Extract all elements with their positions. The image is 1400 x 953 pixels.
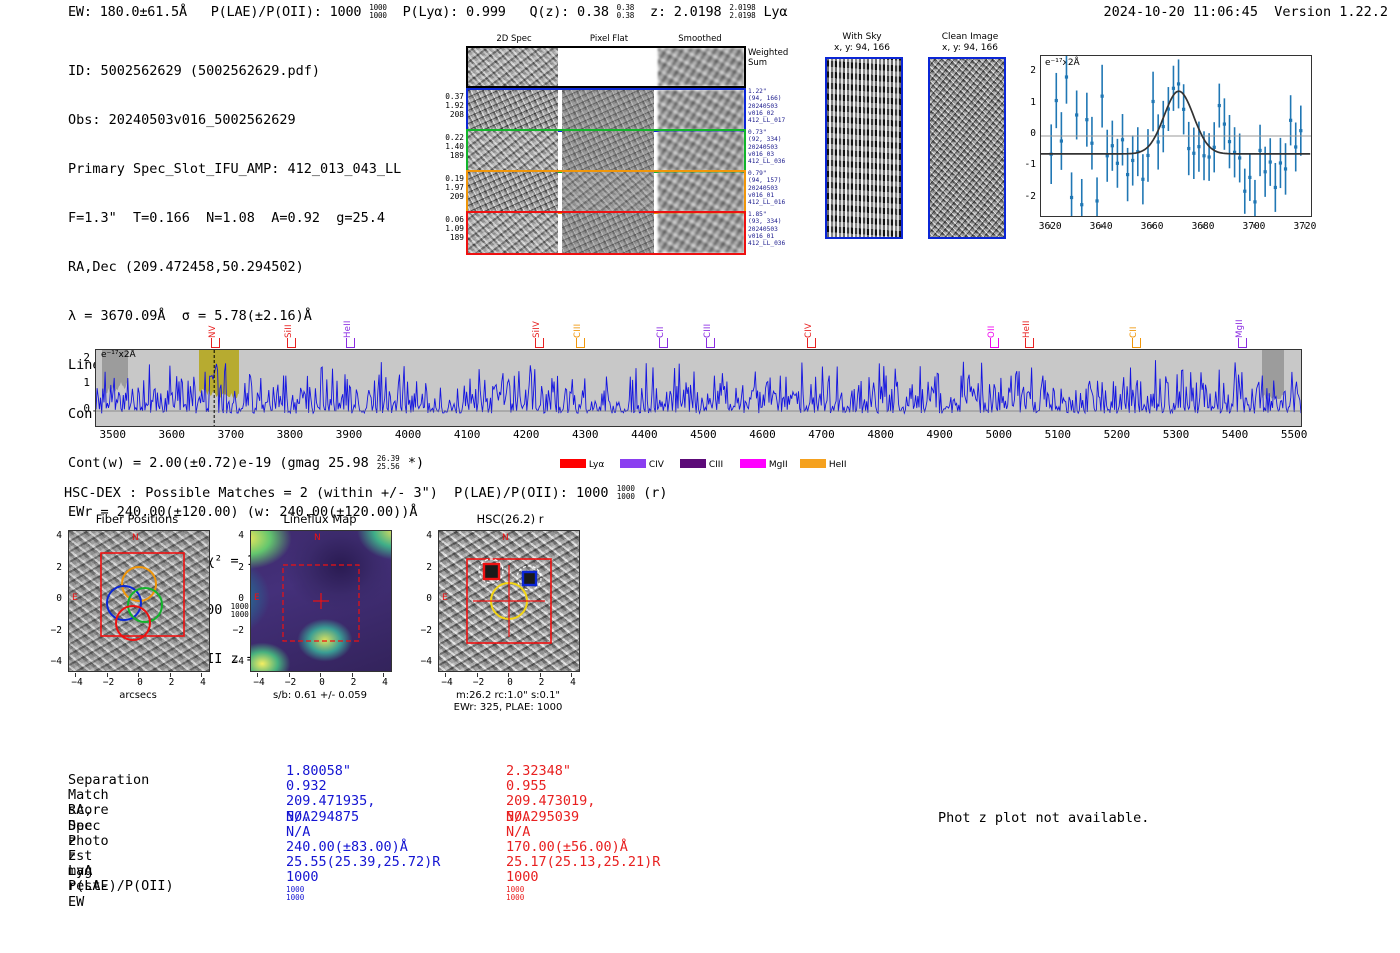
timestamp-version: 2024-10-20 11:06:45 Version 1.22.2 xyxy=(1104,4,1388,20)
spectrum-line-label-cii-5: CII xyxy=(656,310,666,338)
fiber-meta-1: 1.22"(94, 166) 20240503v016_02 412_LL_01… xyxy=(748,88,785,124)
compass-north-1: N xyxy=(132,533,139,543)
legend-swatch-1 xyxy=(620,459,646,468)
spectrum-line-label-heii-2: HeII xyxy=(343,310,353,338)
fiber-weight-1: 0.371.92208 xyxy=(440,92,464,119)
spectrum-line-tick-9 xyxy=(1025,338,1034,348)
compass-north-2: N xyxy=(314,533,321,543)
legend-item-ciii: CIII xyxy=(680,452,723,471)
spectrum-line-tick-7 xyxy=(807,338,816,348)
fiber-weight-4: 0.061.09189 xyxy=(440,215,464,242)
spectrum-line-label-mgii-11: MgII xyxy=(1235,310,1245,338)
legend-label-3: MgII xyxy=(766,460,788,470)
spectrum-line-label-nv-0: NV xyxy=(208,310,218,338)
compass-east-2: E xyxy=(254,593,260,603)
full-spectrum-plot: e⁻¹⁷x2Å xyxy=(95,349,1302,427)
fiber-positions-yaxis: 420−2−4 xyxy=(44,530,66,670)
spectrum-line-label-ciii-4: CIII xyxy=(573,310,583,338)
legend-swatch-0 xyxy=(560,459,586,468)
spectrum-line-tick-3 xyxy=(535,338,544,348)
legend-item-lyα: Lyα xyxy=(560,452,604,471)
panel-title-hsc-r: HSC(26.2) r xyxy=(430,512,590,526)
spectrum-line-labels: NVSiIIHeIISiIVCIIICIICIIICIVOIIHeIICIIMg… xyxy=(95,310,1305,350)
header-plya-qz: P(Lyα): 0.999 Q(z): 0.38 xyxy=(387,4,617,20)
fiber-image-2 xyxy=(466,129,746,173)
legend-label-2: CIII xyxy=(706,460,723,470)
match-row-label-0: Separation xyxy=(68,773,149,788)
spectrum-line-tick-1 xyxy=(287,338,296,348)
z-fraction: 2.01982.0198 xyxy=(729,4,755,20)
match-col1-value-4: N/A xyxy=(286,825,310,840)
clean-image xyxy=(928,57,1006,239)
meta-line-seeing: F=1.3" T=0.166 N=1.08 A=0.92 g=25.4 xyxy=(68,210,424,226)
panel-title-fiber-positions: Fiber Positions xyxy=(62,512,212,526)
hsc-r-image: N E xyxy=(438,530,580,672)
qz-fraction: 0.380.38 xyxy=(617,4,635,20)
match-col2-value-1: 0.955 xyxy=(506,779,547,794)
fiber-image-3 xyxy=(466,170,746,214)
match-col1-value-5: 240.00(±83.00)Å xyxy=(286,840,408,855)
legend-item-heii: HeII xyxy=(800,452,846,471)
match-col1-value-0: 1.80058" xyxy=(286,764,351,779)
match-col1-value-6: 25.55(25.39,25.72)R xyxy=(286,855,440,870)
fiber-image-4 xyxy=(466,211,746,255)
lineflux-map-caption: s/b: 0.61 +/- 0.059 xyxy=(240,690,400,701)
match-marker-blue xyxy=(523,572,536,585)
spectrum-line-tick-4 xyxy=(576,338,585,348)
with-sky-title: With Skyx, y: 94, 166 xyxy=(820,32,904,54)
legend-label-0: Lyα xyxy=(586,460,604,470)
match-col2-plae: 100010001000 xyxy=(506,870,539,901)
line-fit-xaxis: 362036403660368037003720 xyxy=(1040,215,1310,234)
panel-title-lineflux-map: Lineflux Map xyxy=(240,512,400,526)
legend-label-4: HeII xyxy=(826,460,846,470)
fiber-meta-4: 1.85"(93, 334) 20240503v016_01 412_LL_03… xyxy=(748,211,785,247)
gmag-fraction: 26.3925.56 xyxy=(377,455,400,471)
fiber-positions-xlabel: arcsecs xyxy=(68,690,208,701)
header-summary: EW: 180.0±61.5Å P(LAE)/P(OII): 1000 1000… xyxy=(68,4,787,20)
legend-item-mgii: MgII xyxy=(740,452,788,471)
match-col2-value-0: 2.32348" xyxy=(506,764,571,779)
lineflux-map-image: N E xyxy=(250,530,392,672)
fiber-meta-3: 0.79"(94, 157) 20240503v016_01 412_LL_01… xyxy=(748,170,785,206)
label-pixel-flat: Pixel Flat xyxy=(566,34,652,44)
hscdex-plae-fraction: 10001000 xyxy=(617,485,635,501)
match-col2-value-6: 25.17(25.13,25.21)R xyxy=(506,855,660,870)
spectrum-line-label-oii-8: OII xyxy=(987,310,997,338)
spectrum-line-label-heii-9: HeII xyxy=(1022,310,1032,338)
spectrum-line-label-siiv-3: SiIV xyxy=(532,310,542,338)
spectrum-units: e⁻¹⁷x2Å xyxy=(101,350,136,360)
spectrum-line-label-siii-1: SiII xyxy=(284,310,294,338)
match-row-label-7: P(LAE)/P(OII) xyxy=(68,879,174,894)
photz-note: Phot z plot not available. xyxy=(938,810,1149,826)
spectrum-svg xyxy=(96,350,1301,426)
fiber-circle-red xyxy=(116,606,150,640)
spectrum-line-label-ciii-6: CIII xyxy=(703,310,713,338)
meta-line-id: ID: 5002562629 (5002562629.pdf) xyxy=(68,63,424,79)
spectrum-line-label-cii-10: CII xyxy=(1129,310,1139,338)
fiber-rows: 0.371.92208 1.22"(94, 166) 20240503v016_… xyxy=(440,88,800,250)
line-fit-plot: e⁻¹⁷x2Å xyxy=(1040,55,1312,217)
compass-east-3: E xyxy=(442,593,448,603)
spectrum-line-tick-5 xyxy=(659,338,668,348)
spectrum-line-tick-8 xyxy=(990,338,999,348)
lineflux-map-yaxis: 420−2−4 xyxy=(226,530,248,670)
weighted-sum-image xyxy=(466,46,746,88)
legend-swatch-4 xyxy=(800,459,826,468)
legend-label-1: CIV xyxy=(646,460,664,470)
header-z-suffix: Lyα xyxy=(756,4,788,20)
match-col2-value-4: N/A xyxy=(506,825,530,840)
spectrum-line-tick-6 xyxy=(706,338,715,348)
compass-east-1: E xyxy=(72,593,78,603)
legend-item-civ: CIV xyxy=(620,452,664,471)
fiber-weight-3: 0.191.97209 xyxy=(440,174,464,201)
match-col2-value-3: N/A xyxy=(506,810,530,825)
match-col1-value-3: N/A xyxy=(286,810,310,825)
spectrum-line-tick-10 xyxy=(1132,338,1141,348)
plae-fraction: 10001000 xyxy=(369,4,387,20)
match-marker-red xyxy=(484,564,499,579)
weighted-sum-label: Weighted Sum xyxy=(748,48,788,68)
fiber-positions-image: N E xyxy=(68,530,210,672)
hscdex-header: HSC-DEX : Possible Matches = 2 (within +… xyxy=(64,485,668,501)
meta-line-obs: Obs: 20240503v016_5002562629 xyxy=(68,112,424,128)
label-2d-spec: 2D Spec xyxy=(466,34,562,44)
label-smoothed: Smoothed xyxy=(656,34,744,44)
with-sky-image xyxy=(825,57,903,239)
spectrum-yaxis: 012 xyxy=(70,349,92,425)
fiber-meta-2: 0.73"(92, 334) 20240503v016_03 412_LL_03… xyxy=(748,129,785,165)
meta-line-slot: Primary Spec_Slot_IFU_AMP: 412_013_043_L… xyxy=(68,161,424,177)
spectrum-line-tick-11 xyxy=(1238,338,1247,348)
clean-image-title: Clean Imagex, y: 94, 166 xyxy=(920,32,1020,54)
hsc-r-yaxis: 420−2−4 xyxy=(414,530,436,670)
line-fit-svg xyxy=(1041,56,1311,216)
fiber-weight-2: 0.221.40189 xyxy=(440,133,464,160)
match-col1-plae: 100010001000 xyxy=(286,870,319,901)
line-fit-yaxis: -2-1012 xyxy=(1014,55,1038,215)
hsc-r-caption-1: m:26.2 rc:1.0" s:0.1" xyxy=(428,690,588,702)
spectrum-line-tick-0 xyxy=(211,338,220,348)
match-col2-value-5: 170.00(±56.00)Å xyxy=(506,840,628,855)
legend-swatch-2 xyxy=(680,459,706,468)
hsc-r-caption-2: EWr: 325, PLAE: 1000 xyxy=(428,702,588,714)
spectrum-xaxis: 3500360037003800390040004100420043004400… xyxy=(95,428,1300,444)
header-ew-plae: EW: 180.0±61.5Å P(LAE)/P(OII): 1000 xyxy=(68,4,369,20)
meta-line-radec: RA,Dec (209.472458,50.294502) xyxy=(68,259,424,275)
fiber-circle-green xyxy=(128,588,162,622)
header-z: z: 2.0198 xyxy=(634,4,729,20)
fiber-image-1 xyxy=(466,88,746,132)
spectrum-line-tick-2 xyxy=(346,338,355,348)
meta-line-contw: Cont(w) = 2.00(±0.72)e-19 (gmag 25.98 26… xyxy=(68,455,424,471)
match-col1-value-1: 0.932 xyxy=(286,779,327,794)
hsc-r-captions: m:26.2 rc:1.0" s:0.1" EWr: 325, PLAE: 10… xyxy=(428,690,588,714)
legend-swatch-3 xyxy=(740,459,766,468)
compass-north-3: N xyxy=(502,533,509,543)
match-row-label-6: mag xyxy=(68,864,92,879)
spectrum-line-label-civ-7: CIV xyxy=(804,310,814,338)
